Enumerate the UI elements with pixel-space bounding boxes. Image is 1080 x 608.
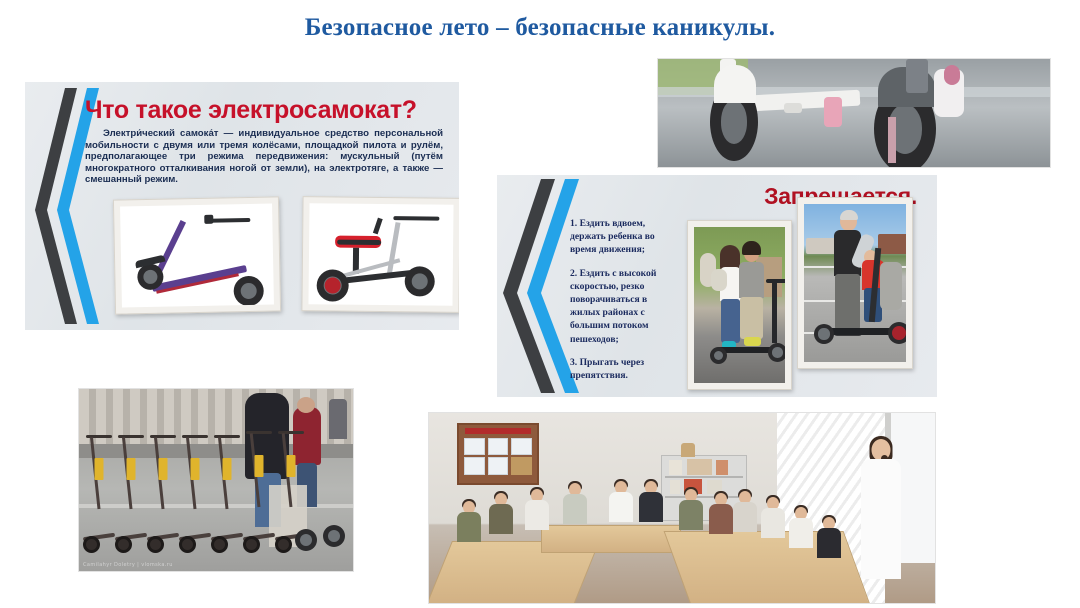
prohibited-rule-2: 2. Ездить с высокой скоростью, резко пов… [570, 267, 678, 346]
poster-definition-body: Электри́ческий самока́т — индивидуальное… [85, 128, 443, 186]
rack-scooter [177, 437, 213, 553]
photo-electric-scooter-with-seat [301, 196, 459, 313]
photo-scooter-wheels-closeup [657, 58, 1051, 168]
prohibited-rules-list: 1. Ездить вдвоем, держать ребенка во вре… [570, 217, 678, 392]
photo-watermark: Сamilahyr Doletry | vlomska.ru [83, 562, 173, 568]
slide-root: Безопасное лето – безопасные каникулы. Ч… [0, 0, 1080, 608]
rack-scooter [209, 437, 245, 553]
photo-scooter-sharing-rack: Сamilahyr Doletry | vlomska.ru [78, 388, 354, 572]
prohibited-rule-1: 1. Ездить вдвоем, держать ребенка во вре… [570, 217, 678, 257]
poster-definition-heading: Что такое электросамокат? [85, 96, 445, 125]
poster-what-is-electric-scooter: Что такое электросамокат? Электри́ческий… [25, 82, 459, 330]
rack-scooter [241, 433, 277, 553]
photo-classroom-lecture [428, 412, 936, 604]
photo-adult-with-child-on-scooter [797, 197, 913, 369]
rack-scooter [81, 437, 117, 553]
page-title: Безопасное лето – безопасные каникулы. [0, 14, 1080, 42]
photo-couple-riding-one-scooter [687, 220, 792, 390]
poster-prohibited-actions: Запрещается. 1. Ездить вдвоем, держать р… [497, 175, 937, 397]
rack-scooter [145, 437, 181, 553]
rack-scooter [113, 437, 149, 553]
desk-center [541, 525, 681, 553]
prohibited-rule-3: 3. Прыгать через препятствия. [570, 356, 678, 382]
classroom-info-board [457, 423, 539, 485]
photo-purple-electric-scooter [113, 196, 281, 314]
